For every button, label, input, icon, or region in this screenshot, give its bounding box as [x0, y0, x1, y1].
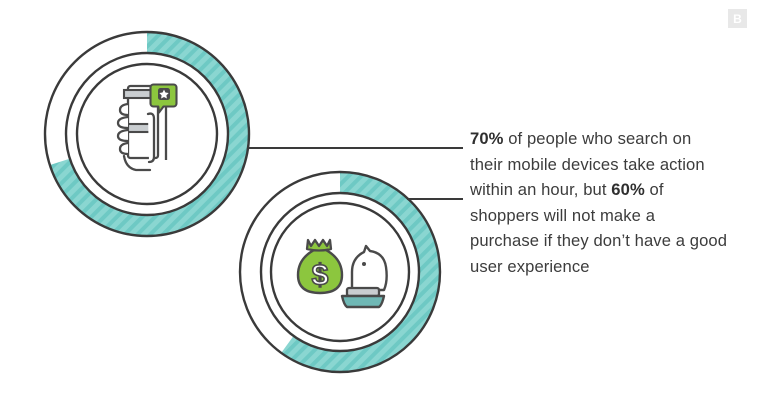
infographic-canvas: $ 70% of people who search on their mobi…: [0, 0, 762, 402]
stat-primary: 70%: [470, 129, 504, 148]
chess-knight-base: [342, 296, 384, 307]
brand-watermark-logo: B: [728, 9, 747, 28]
no-purchase-donut: $: [240, 172, 440, 372]
callout-segment-1: of people who search on their mobile dev…: [470, 129, 705, 199]
callout-text: 70% of people who search on their mobile…: [470, 126, 728, 280]
mobile-action-donut: [45, 32, 249, 236]
stat-secondary: 60%: [611, 180, 645, 199]
chess-knight-eye: [362, 262, 366, 266]
dollar-sign: $: [312, 259, 329, 292]
